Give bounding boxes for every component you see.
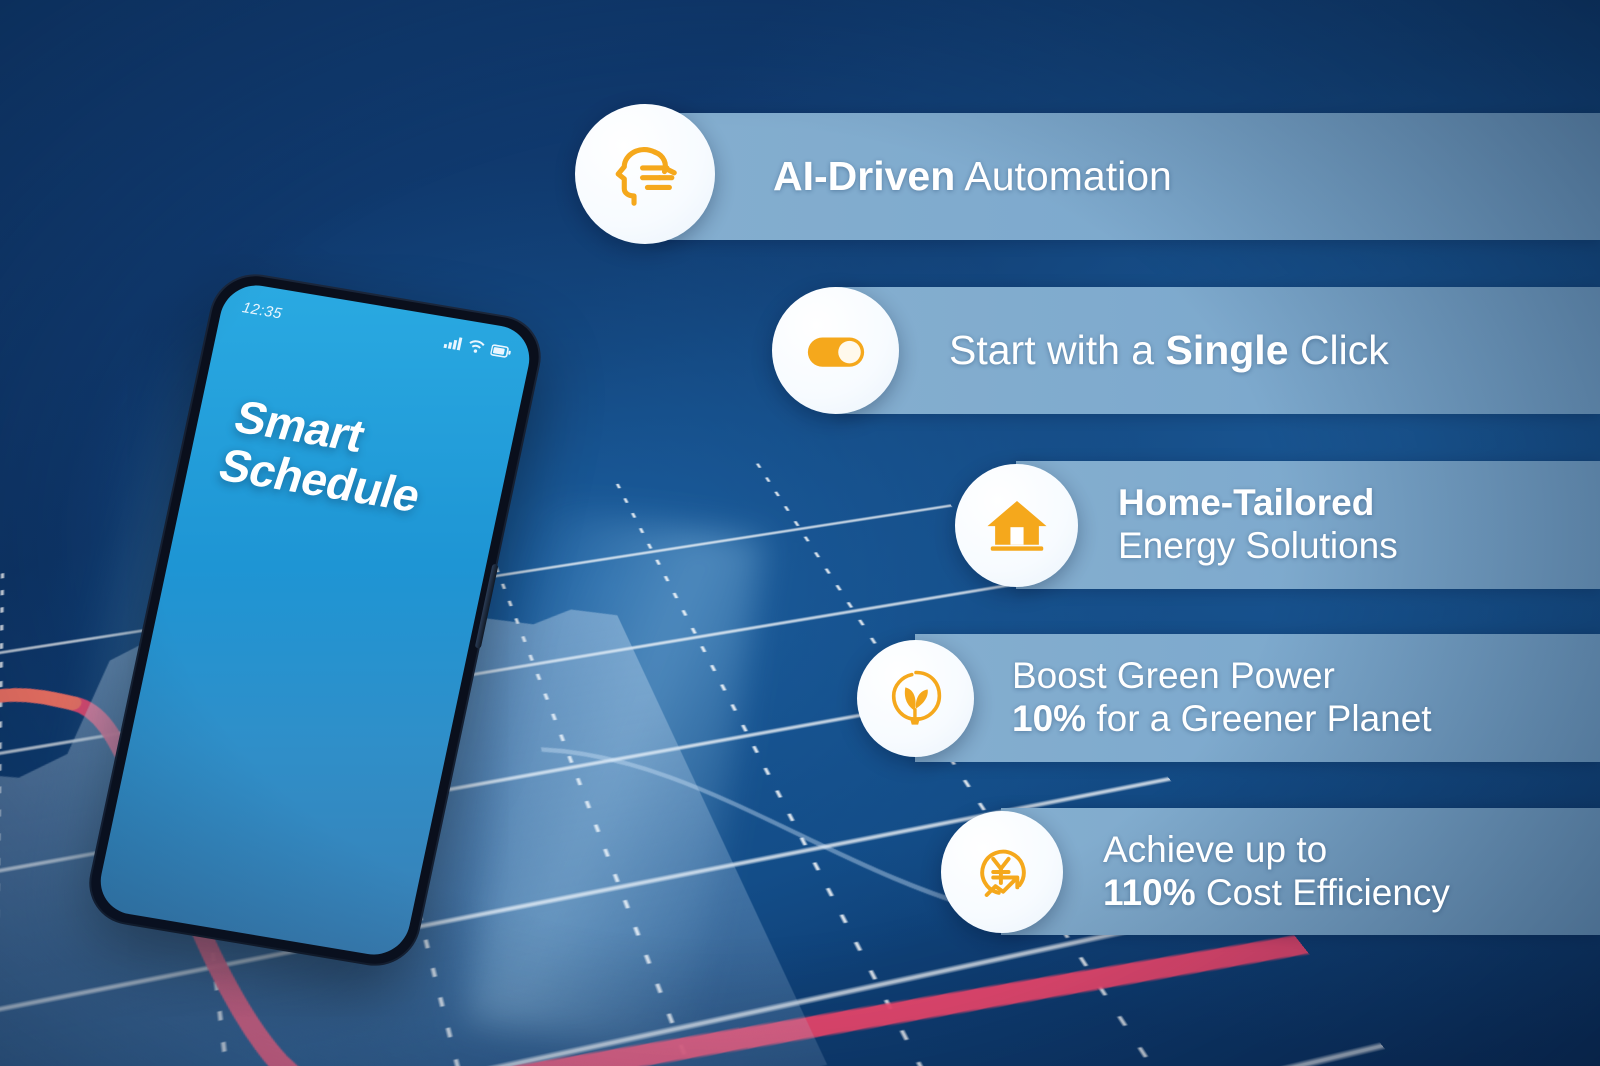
feature-icon-badge [772, 287, 899, 414]
feature-label-line1: Boost Green Power [1012, 655, 1432, 698]
feature-label: Boost Green Power 10% for a Greener Plan… [1012, 655, 1432, 741]
feature-label: Achieve up to 110% Cost Efficiency [1103, 829, 1450, 915]
feature-label-line1: Achieve up to [1103, 829, 1450, 872]
feature-icon-badge [955, 464, 1078, 587]
feature-icon-badge [575, 104, 715, 244]
yen-growth-icon [967, 837, 1037, 907]
feature-label-line2-regular: Cost Efficiency [1196, 872, 1450, 913]
feature-label-line2: Energy Solutions [1118, 525, 1398, 568]
feature-label-line2-bold: 110% [1103, 872, 1196, 913]
feature-label-bold: Single [1165, 327, 1288, 373]
toggle-switch-icon[interactable] [800, 315, 872, 387]
feature-label-line1: Home-Tailored [1118, 482, 1398, 525]
feature-label: Start with a Single Click [949, 327, 1389, 375]
green-plug-leaf-icon [882, 664, 950, 732]
feature-label-regular: Automation [955, 153, 1172, 199]
feature-label-post: Click [1289, 327, 1389, 373]
feature-label-line2-regular: for a Greener Planet [1086, 698, 1432, 739]
feature-label: AI-Driven Automation [773, 153, 1172, 201]
feature-label-bold: AI-Driven [773, 153, 955, 199]
home-icon [982, 490, 1052, 560]
feature-label: Home-Tailored Energy Solutions [1118, 482, 1398, 568]
feature-label-pre: Start with a [949, 327, 1165, 373]
feature-icon-badge [941, 811, 1063, 933]
feature-label-line2-bold: 10% [1012, 698, 1086, 739]
feature-icon-badge [857, 640, 974, 757]
ai-head-icon [606, 135, 684, 213]
